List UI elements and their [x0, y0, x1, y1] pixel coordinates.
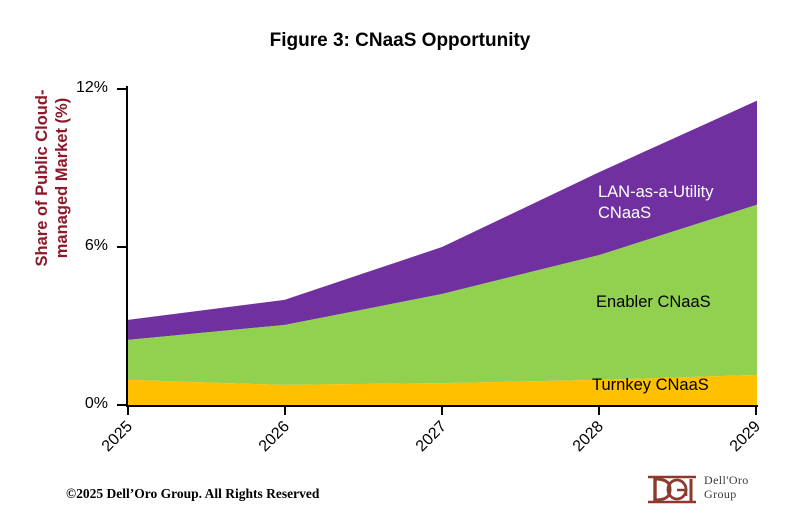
- copyright-notice: ©2025 Dell’Oro Group. All Rights Reserve…: [66, 486, 319, 502]
- x-tick-label-2026: 2026: [239, 418, 294, 473]
- brand-logo-text: Dell'Oro Group: [704, 473, 749, 501]
- brand-logo: Dell'Oro Group: [646, 470, 776, 510]
- plot-area: [127, 88, 757, 405]
- stacked-area-plot: [127, 88, 757, 405]
- x-tick-2025: [127, 406, 129, 415]
- series-label-turnkey: Turnkey CNaaS: [592, 375, 709, 396]
- x-tick-2029: [755, 406, 757, 415]
- y-tick-6: [117, 246, 127, 248]
- x-tick-2027: [441, 406, 443, 415]
- x-tick-label-2028: 2028: [553, 418, 608, 473]
- y-tick-12: [117, 88, 127, 90]
- chart-figure: Figure 3: CNaaS Opportunity Share of Pub…: [0, 0, 800, 528]
- series-label-enabler: Enabler CNaaS: [596, 292, 711, 313]
- x-tick-2028: [598, 406, 600, 415]
- y-tick-label-6: 6%: [48, 237, 108, 255]
- series-label-lan-as-a-utility: LAN-as-a-Utility CNaaS: [598, 182, 714, 224]
- x-tick-label-2029: 2029: [710, 418, 765, 473]
- page-title: Figure 3: CNaaS Opportunity: [0, 30, 800, 52]
- y-tick-label-0: 0%: [48, 395, 108, 413]
- dell-oro-monogram-icon: [646, 472, 698, 506]
- x-tick-label-2027: 2027: [396, 418, 451, 473]
- x-tick-2026: [284, 406, 286, 415]
- x-tick-label-2025: 2025: [82, 418, 137, 473]
- y-tick-label-12: 12%: [48, 79, 108, 97]
- y-tick-0: [117, 404, 127, 406]
